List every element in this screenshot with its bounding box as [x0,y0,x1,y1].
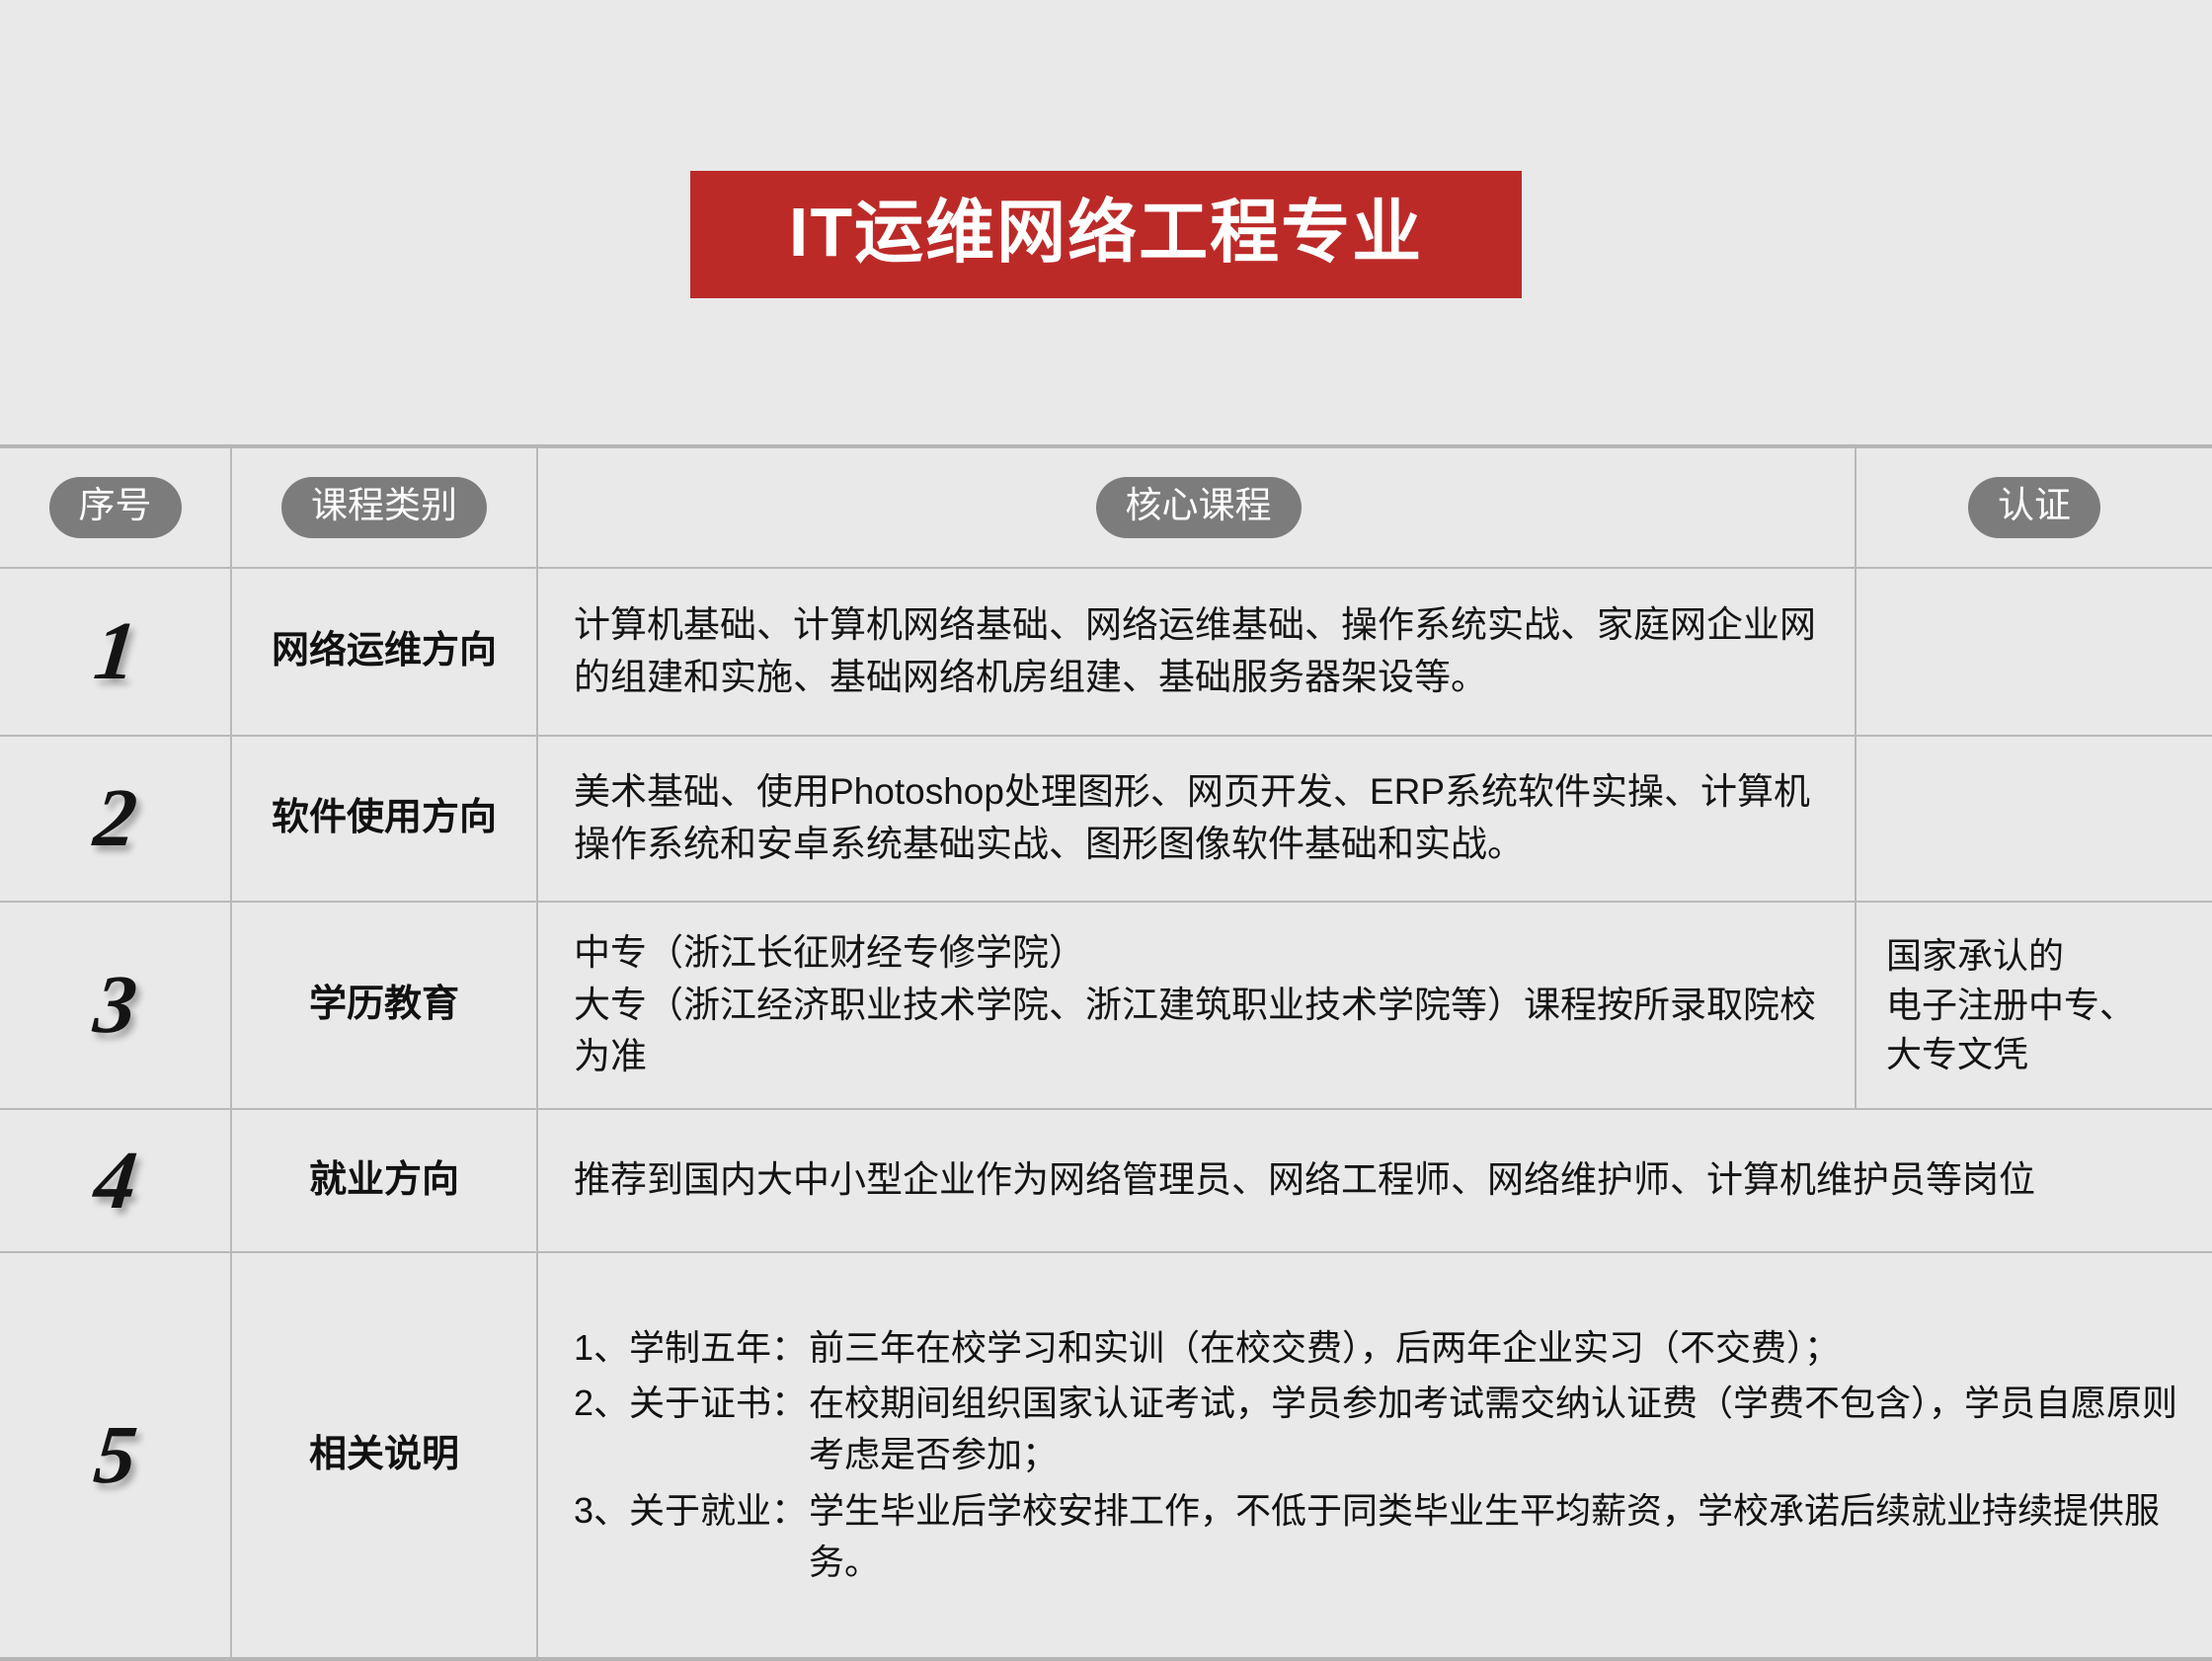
note-body: 前三年在校学习和实训（在校交费），后两年企业实习（不交费）； [809,1322,2180,1374]
header-pill-category: 课程类别 [281,477,487,538]
row-core-text: 美术基础、使用Photoshop处理图形、网页开发、ERP系统软件实操、计算机操… [574,766,1823,870]
row-number-cell: 3 [0,903,232,1108]
row-number: 5 [90,1414,140,1497]
row-certification-cell [1856,569,2212,735]
row-core-cell: 中专（浙江长征财经专修学院） 大专（浙江经济职业技术学院、浙江建筑职业技术学院等… [538,903,1856,1108]
certification-line-2: 电子注册中专、 [1886,981,2135,1030]
row-core-text: 计算机基础、计算机网络基础、网络运维基础、操作系统实战、家庭网企业网的组建和实施… [574,599,1823,703]
row-category-cell: 网络运维方向 [232,569,538,735]
row-category-label: 网络运维方向 [272,629,497,674]
row-category-cell: 软件使用方向 [232,737,538,901]
page-title: IT运维网络工程专业 [690,171,1522,298]
row-number: 2 [90,777,140,860]
notes-list: 1、学制五年： 前三年在校学习和实训（在校交费），后两年企业实习（不交费）； 2… [574,1322,2180,1588]
note-item: 1、学制五年： 前三年在校学习和实训（在校交费），后两年企业实习（不交费）； [574,1322,2180,1374]
row-core-text-block: 中专（浙江长征财经专修学院） 大专（浙江经济职业技术学院、浙江建筑职业技术学院等… [574,927,1823,1083]
certification-line-1: 国家承认的 [1886,931,2135,981]
note-item: 2、关于证书： 在校期间组织国家认证考试，学员参加考试需交纳认证费（学费不包含）… [574,1378,2180,1480]
curriculum-table: 序号 课程类别 核心课程 认证 1 网络运维方向 计算机基础、计算机网络基础、网… [0,444,2212,1661]
row-certification-cell: 国家承认的 电子注册中专、 大专文凭 [1856,903,2212,1108]
header-pill-number: 序号 [49,477,182,538]
row-number: 3 [90,964,140,1047]
header-cell-category: 课程类别 [232,448,538,567]
note-item: 3、关于就业： 学生毕业后学校安排工作，不低于同类毕业生平均薪资，学校承诺后续就… [574,1485,2180,1588]
row-core-cell: 1、学制五年： 前三年在校学习和实训（在校交费），后两年企业实习（不交费）； 2… [538,1253,2212,1657]
table-header-row: 序号 课程类别 核心课程 认证 [0,448,2212,569]
note-body: 在校期间组织国家认证考试，学员参加考试需交纳认证费（学费不包含），学员自愿原则考… [809,1378,2180,1480]
header-cell-certification: 认证 [1856,448,2212,567]
row-core-cell: 美术基础、使用Photoshop处理图形、网页开发、ERP系统软件实操、计算机操… [538,737,1856,901]
row-number: 4 [90,1140,140,1223]
certification-line-3: 大专文凭 [1886,1030,2135,1079]
row-core-text-line-2: 大专（浙江经济职业技术学院、浙江建筑职业技术学院等）课程按所录取院校为准 [574,980,1823,1083]
row-category-cell: 相关说明 [232,1253,538,1657]
row-number: 1 [90,610,140,693]
note-body: 学生毕业后学校安排工作，不低于同类毕业生平均薪资，学校承诺后续就业持续提供服务。 [809,1485,2180,1588]
table-row: 1 网络运维方向 计算机基础、计算机网络基础、网络运维基础、操作系统实战、家庭网… [0,569,2212,737]
row-number-cell: 1 [0,569,232,735]
row-category-label: 软件使用方向 [272,796,497,841]
row-category-label: 学历教育 [309,983,459,1028]
row-certification-text-block: 国家承认的 电子注册中专、 大专文凭 [1886,931,2135,1078]
note-marker: 3、关于就业： [574,1485,809,1588]
note-marker: 1、学制五年： [574,1322,809,1374]
table-row: 5 相关说明 1、学制五年： 前三年在校学习和实训（在校交费），后两年企业实习（… [0,1253,2212,1657]
row-category-label: 相关说明 [309,1433,459,1478]
row-category-cell: 就业方向 [232,1110,538,1251]
table-row: 4 就业方向 推荐到国内大中小型企业作为网络管理员、网络工程师、网络维护师、计算… [0,1110,2212,1253]
header-pill-core-courses: 核心课程 [1096,477,1302,538]
header-cell-number: 序号 [0,448,232,567]
row-number-cell: 4 [0,1110,232,1251]
table-row: 2 软件使用方向 美术基础、使用Photoshop处理图形、网页开发、ERP系统… [0,737,2212,903]
row-core-text-line-1: 中专（浙江长征财经专修学院） [574,927,1823,980]
row-category-label: 就业方向 [309,1158,459,1204]
row-category-cell: 学历教育 [232,903,538,1108]
table-row: 3 学历教育 中专（浙江长征财经专修学院） 大专（浙江经济职业技术学院、浙江建筑… [0,903,2212,1110]
header-cell-core-courses: 核心课程 [538,448,1856,567]
row-core-cell: 推荐到国内大中小型企业作为网络管理员、网络工程师、网络维护师、计算机维护员等岗位 [538,1110,2212,1251]
row-number-cell: 5 [0,1253,232,1657]
page-title-container: IT运维网络工程专业 [0,171,2212,298]
note-marker: 2、关于证书： [574,1378,809,1480]
row-number-cell: 2 [0,737,232,901]
row-certification-cell [1856,737,2212,901]
row-core-cell: 计算机基础、计算机网络基础、网络运维基础、操作系统实战、家庭网企业网的组建和实施… [538,569,1856,735]
header-pill-certification: 认证 [1968,477,2100,538]
row-core-text: 推荐到国内大中小型企业作为网络管理员、网络工程师、网络维护师、计算机维护员等岗位 [574,1154,2035,1207]
